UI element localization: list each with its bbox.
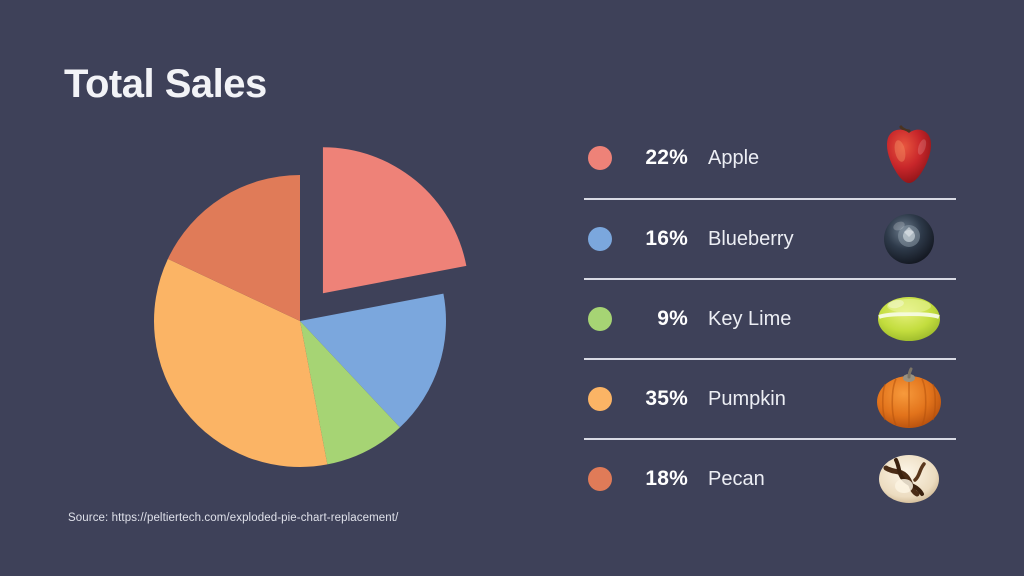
legend-label-apple: Apple	[698, 147, 866, 170]
pumpkin-photo-icon	[866, 362, 952, 436]
legend-percent-key-lime: 9%	[612, 307, 698, 331]
legend: 22% Apple	[584, 118, 956, 518]
legend-swatch-pumpkin	[588, 387, 612, 411]
key-lime-photo-icon	[866, 282, 952, 356]
legend-percent-pumpkin: 35%	[612, 387, 698, 411]
source-note: Source: https://peltiertech.com/exploded…	[68, 512, 398, 524]
legend-row-apple[interactable]: 22% Apple	[584, 118, 956, 198]
legend-label-blueberry: Blueberry	[698, 228, 866, 251]
legend-swatch-blueberry	[588, 227, 612, 251]
blueberry-photo-icon	[866, 202, 952, 276]
apple-photo-icon	[866, 121, 952, 195]
legend-swatch-key-lime	[588, 307, 612, 331]
legend-swatch-apple	[588, 146, 612, 170]
slide-canvas: Total Sales 22% Apple	[0, 0, 1024, 576]
legend-label-pecan: Pecan	[698, 468, 866, 491]
pie-chart	[0, 0, 560, 576]
legend-row-blueberry[interactable]: 16% Blueberry	[584, 198, 956, 278]
legend-label-pumpkin: Pumpkin	[698, 388, 866, 411]
legend-row-key-lime[interactable]: 9% Key Lime	[584, 278, 956, 358]
legend-label-key-lime: Key Lime	[698, 308, 866, 331]
legend-swatch-pecan	[588, 467, 612, 491]
legend-percent-blueberry: 16%	[612, 227, 698, 251]
legend-percent-pecan: 18%	[612, 467, 698, 491]
legend-percent-apple: 22%	[612, 146, 698, 170]
pie-slice-apple[interactable]	[323, 147, 466, 293]
pie-chart-svg	[0, 0, 560, 576]
legend-row-pecan[interactable]: 18% Pecan	[584, 438, 956, 518]
pecan-photo-icon	[866, 442, 952, 516]
legend-row-pumpkin[interactable]: 35% Pumpkin	[584, 358, 956, 438]
